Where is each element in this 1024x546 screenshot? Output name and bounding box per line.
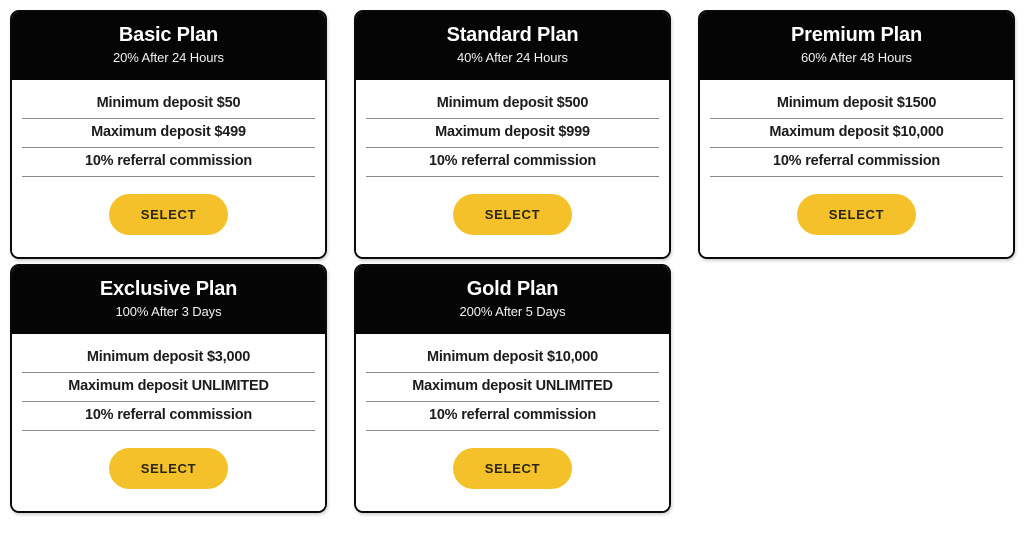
- plan-header: Gold Plan 200% After 5 Days: [356, 266, 669, 334]
- select-button[interactable]: SELECT: [109, 194, 228, 235]
- plan-header: Premium Plan 60% After 48 Hours: [700, 12, 1013, 80]
- plan-select-wrap: SELECT: [366, 177, 659, 257]
- plan-select-wrap: SELECT: [22, 177, 315, 257]
- plan-subtitle: 20% After 24 Hours: [22, 50, 315, 67]
- pricing-plans-grid: Basic Plan 20% After 24 Hours Minimum de…: [0, 0, 1024, 523]
- select-button[interactable]: SELECT: [453, 448, 572, 489]
- plan-body: Minimum deposit $3,000 Maximum deposit U…: [12, 334, 325, 511]
- plan-body: Minimum deposit $50 Maximum deposit $499…: [12, 80, 325, 257]
- plan-subtitle: 200% After 5 Days: [366, 304, 659, 321]
- plan-title: Premium Plan: [710, 24, 1003, 47]
- plan-feature-max-deposit: Maximum deposit $10,000: [710, 119, 1003, 148]
- plan-feature-min-deposit: Minimum deposit $3,000: [22, 344, 315, 373]
- plan-select-wrap: SELECT: [22, 431, 315, 511]
- plan-card-basic[interactable]: Basic Plan 20% After 24 Hours Minimum de…: [10, 10, 327, 259]
- plan-header: Exclusive Plan 100% After 3 Days: [12, 266, 325, 334]
- plan-card-premium[interactable]: Premium Plan 60% After 48 Hours Minimum …: [698, 10, 1015, 259]
- plan-feature-max-deposit: Maximum deposit $499: [22, 119, 315, 148]
- plan-header: Basic Plan 20% After 24 Hours: [12, 12, 325, 80]
- plan-header: Standard Plan 40% After 24 Hours: [356, 12, 669, 80]
- plan-feature-min-deposit: Minimum deposit $10,000: [366, 344, 659, 373]
- plan-title: Basic Plan: [22, 24, 315, 47]
- plan-select-wrap: SELECT: [366, 431, 659, 511]
- plan-body: Minimum deposit $10,000 Maximum deposit …: [356, 334, 669, 511]
- plan-select-wrap: SELECT: [710, 177, 1003, 257]
- plan-subtitle: 100% After 3 Days: [22, 304, 315, 321]
- plan-feature-max-deposit: Maximum deposit UNLIMITED: [22, 373, 315, 402]
- plan-feature-max-deposit: Maximum deposit UNLIMITED: [366, 373, 659, 402]
- plan-title: Exclusive Plan: [22, 278, 315, 301]
- plan-feature-min-deposit: Minimum deposit $50: [22, 90, 315, 119]
- plan-feature-min-deposit: Minimum deposit $1500: [710, 90, 1003, 119]
- plan-feature-max-deposit: Maximum deposit $999: [366, 119, 659, 148]
- plan-feature-referral: 10% referral commission: [366, 402, 659, 431]
- select-button[interactable]: SELECT: [797, 194, 916, 235]
- plan-feature-referral: 10% referral commission: [22, 402, 315, 431]
- plan-feature-min-deposit: Minimum deposit $500: [366, 90, 659, 119]
- plan-card-standard[interactable]: Standard Plan 40% After 24 Hours Minimum…: [354, 10, 671, 259]
- plan-body: Minimum deposit $500 Maximum deposit $99…: [356, 80, 669, 257]
- plan-card-exclusive[interactable]: Exclusive Plan 100% After 3 Days Minimum…: [10, 264, 327, 513]
- select-button[interactable]: SELECT: [109, 448, 228, 489]
- plan-title: Standard Plan: [366, 24, 659, 47]
- plan-feature-referral: 10% referral commission: [22, 148, 315, 177]
- plan-subtitle: 40% After 24 Hours: [366, 50, 659, 67]
- plan-body: Minimum deposit $1500 Maximum deposit $1…: [700, 80, 1013, 257]
- plan-subtitle: 60% After 48 Hours: [710, 50, 1003, 67]
- plan-feature-referral: 10% referral commission: [710, 148, 1003, 177]
- plan-title: Gold Plan: [366, 278, 659, 301]
- plan-card-gold[interactable]: Gold Plan 200% After 5 Days Minimum depo…: [354, 264, 671, 513]
- select-button[interactable]: SELECT: [453, 194, 572, 235]
- plan-feature-referral: 10% referral commission: [366, 148, 659, 177]
